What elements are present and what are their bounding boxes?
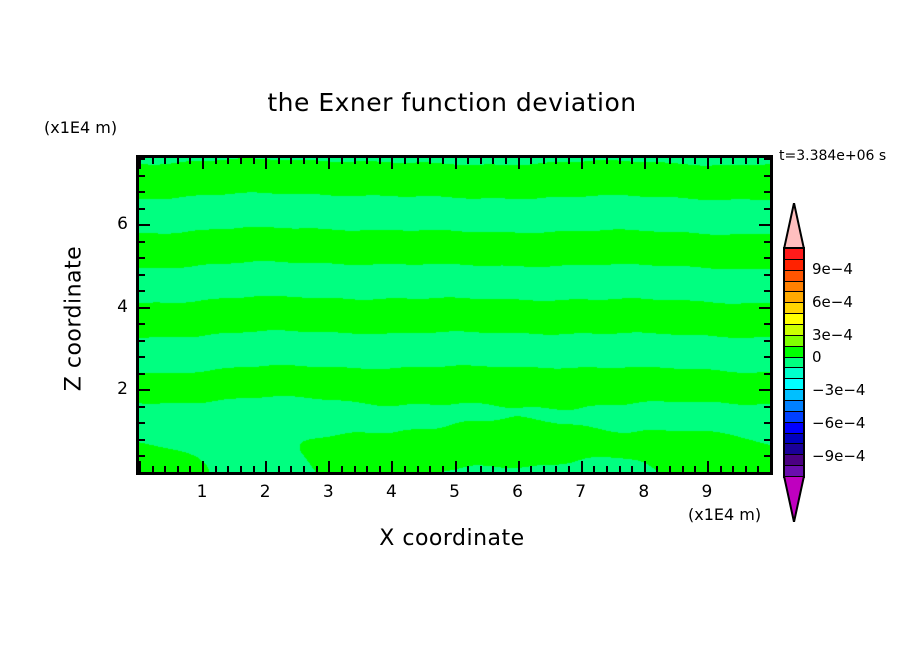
axis-tick [530, 466, 532, 472]
axis-tick [278, 158, 280, 164]
colorbar [783, 247, 805, 478]
axis-tick [770, 461, 772, 472]
colorbar-band [785, 455, 803, 466]
axis-tick [694, 158, 696, 164]
axis-tick [764, 340, 770, 342]
axis-tick [555, 158, 557, 164]
axis-tick [720, 466, 722, 472]
colorbar-band [785, 292, 803, 303]
colorbar-tick-label: −3e−4 [812, 381, 865, 399]
axis-tick [139, 373, 145, 375]
axis-tick [189, 158, 191, 164]
axis-tick [139, 307, 150, 309]
axis-tick [606, 466, 608, 472]
axis-tick [707, 158, 709, 169]
colorbar-band [785, 444, 803, 455]
x-tick-label: 1 [197, 482, 208, 502]
colorbar-band [785, 271, 803, 282]
z-axis-unit-label: (x1E4 m) [44, 118, 117, 137]
axis-tick [518, 158, 520, 169]
axis-tick [442, 158, 444, 164]
axis-tick [303, 158, 305, 164]
axis-tick [366, 466, 368, 472]
axis-tick [764, 439, 770, 441]
axis-tick [764, 158, 770, 160]
axis-tick [139, 323, 145, 325]
axis-tick [764, 356, 770, 358]
colorbar-band [785, 282, 803, 293]
colorbar-tick-label: −9e−4 [812, 447, 865, 465]
axis-tick [745, 466, 747, 472]
axis-tick [467, 158, 469, 164]
axis-tick [379, 158, 381, 164]
axis-tick [759, 224, 770, 226]
axis-tick [568, 466, 570, 472]
axis-tick [253, 158, 255, 164]
colorbar-band [785, 423, 803, 434]
axis-tick [139, 274, 145, 276]
axis-tick [316, 158, 318, 164]
axis-tick [759, 472, 770, 474]
axis-tick [429, 466, 431, 472]
colorbar-band [785, 379, 803, 390]
axis-tick [391, 158, 393, 169]
axis-tick [139, 439, 145, 441]
axis-tick [290, 466, 292, 472]
axis-tick [669, 466, 671, 472]
x-tick-label: 5 [449, 482, 460, 502]
axis-tick [518, 461, 520, 472]
axis-tick [227, 158, 229, 164]
axis-tick [757, 158, 759, 164]
x-tick-label: 7 [575, 482, 586, 502]
axis-tick [770, 158, 772, 169]
axis-tick [631, 158, 633, 164]
axis-tick [764, 373, 770, 375]
axis-tick [759, 307, 770, 309]
axis-tick [707, 461, 709, 472]
axis-tick [139, 257, 145, 259]
axis-tick [341, 158, 343, 164]
colorbar-over-arrow [783, 203, 805, 249]
axis-tick [543, 158, 545, 164]
axis-tick [455, 158, 457, 169]
axis-tick [764, 191, 770, 193]
x-tick-label: 4 [386, 482, 397, 502]
axis-tick [581, 461, 583, 472]
axis-tick [555, 466, 557, 472]
axis-tick [139, 175, 145, 177]
z-tick-label: 6 [104, 214, 128, 234]
colorbar-tick-label: 3e−4 [812, 326, 853, 344]
colorbar-tick-label: 0 [812, 348, 822, 366]
axis-tick [492, 466, 494, 472]
z-tick-label: 2 [104, 379, 128, 399]
axis-tick [492, 158, 494, 164]
axis-tick [139, 191, 145, 193]
axis-tick [379, 466, 381, 472]
colorbar-band [785, 368, 803, 379]
axis-tick [505, 466, 507, 472]
axis-tick [328, 158, 330, 169]
axis-tick [202, 158, 204, 169]
z-axis-title: Z coordinate [62, 219, 87, 419]
axis-tick [265, 461, 267, 472]
axis-tick [764, 290, 770, 292]
axis-tick [455, 461, 457, 472]
axis-tick [619, 466, 621, 472]
axis-tick [139, 422, 145, 424]
axis-tick [391, 461, 393, 472]
x-tick-label: 6 [512, 482, 523, 502]
axis-tick [139, 241, 145, 243]
axis-tick [764, 208, 770, 210]
axis-tick [656, 466, 658, 472]
contour-field-canvas [139, 158, 770, 472]
axis-tick [354, 158, 356, 164]
colorbar-band [785, 260, 803, 271]
x-tick-label: 8 [638, 482, 649, 502]
axis-tick [606, 158, 608, 164]
axis-tick [745, 158, 747, 164]
axis-tick [139, 290, 145, 292]
colorbar-under-arrow [783, 476, 805, 522]
axis-tick [139, 224, 150, 226]
x-tick-label: 2 [260, 482, 271, 502]
axis-tick [656, 158, 658, 164]
axis-tick [152, 466, 154, 472]
axis-tick [202, 461, 204, 472]
axis-tick [366, 158, 368, 164]
axis-tick [429, 158, 431, 164]
axis-tick [764, 274, 770, 276]
axis-tick [303, 466, 305, 472]
axis-tick [593, 158, 595, 164]
axis-tick [227, 466, 229, 472]
axis-tick [505, 158, 507, 164]
axis-tick [164, 158, 166, 164]
axis-tick [177, 158, 179, 164]
axis-tick [764, 406, 770, 408]
axis-tick [764, 455, 770, 457]
colorbar-band [785, 303, 803, 314]
axis-tick [215, 466, 217, 472]
axis-tick [682, 466, 684, 472]
axis-tick [354, 466, 356, 472]
axis-tick [328, 461, 330, 472]
axis-tick [732, 466, 734, 472]
axis-tick [139, 406, 145, 408]
x-axis-unit-label: (x1E4 m) [688, 505, 761, 524]
axis-tick [139, 208, 145, 210]
axis-tick [152, 158, 154, 164]
colorbar-tick-label: −6e−4 [812, 414, 865, 432]
colorbar-band [785, 412, 803, 423]
axis-tick [253, 466, 255, 472]
axis-tick [404, 158, 406, 164]
axis-tick [341, 466, 343, 472]
axis-tick [177, 466, 179, 472]
axis-tick [764, 422, 770, 424]
axis-tick [764, 241, 770, 243]
axis-tick [139, 455, 145, 457]
axis-tick [417, 466, 419, 472]
colorbar-band [785, 466, 803, 476]
axis-tick [619, 158, 621, 164]
colorbar-tick-label: 6e−4 [812, 293, 853, 311]
axis-tick [581, 158, 583, 169]
axis-tick [764, 257, 770, 259]
axis-tick [240, 466, 242, 472]
axis-tick [759, 389, 770, 391]
x-tick-label: 9 [701, 482, 712, 502]
axis-tick [694, 466, 696, 472]
axis-tick [290, 158, 292, 164]
x-tick-label: 3 [323, 482, 334, 502]
axis-tick [417, 158, 419, 164]
colorbar-band [785, 358, 803, 369]
axis-tick [764, 323, 770, 325]
axis-tick [480, 466, 482, 472]
axis-tick [164, 466, 166, 472]
axis-tick [682, 158, 684, 164]
colorbar-band [785, 314, 803, 325]
axis-tick [404, 466, 406, 472]
axis-tick [139, 472, 150, 474]
axis-tick [732, 158, 734, 164]
colorbar-band [785, 336, 803, 347]
axis-tick [240, 158, 242, 164]
axis-tick [139, 158, 145, 160]
axis-tick [265, 158, 267, 169]
contour-plot-area [136, 155, 773, 475]
axis-tick [644, 461, 646, 472]
axis-tick [568, 158, 570, 164]
axis-tick [215, 158, 217, 164]
colorbar-band [785, 325, 803, 336]
colorbar-band [785, 347, 803, 358]
axis-tick [189, 466, 191, 472]
z-tick-label: 4 [104, 297, 128, 317]
colorbar-band [785, 401, 803, 412]
axis-tick [442, 466, 444, 472]
axis-tick [480, 158, 482, 164]
x-axis-title: X coordinate [0, 526, 904, 551]
axis-tick [764, 175, 770, 177]
colorbar-tick-label: 9e−4 [812, 260, 853, 278]
colorbar-band [785, 249, 803, 260]
axis-tick [278, 466, 280, 472]
axis-tick [467, 466, 469, 472]
axis-tick [631, 466, 633, 472]
axis-tick [139, 389, 150, 391]
axis-tick [139, 356, 145, 358]
axis-tick [543, 466, 545, 472]
time-stamp-label: t=3.384e+06 s [779, 148, 886, 164]
axis-tick [139, 340, 145, 342]
colorbar-band [785, 390, 803, 401]
axis-tick [644, 158, 646, 169]
page-title: the Exner function deviation [0, 88, 904, 117]
axis-tick [720, 158, 722, 164]
axis-tick [316, 466, 318, 472]
axis-tick [139, 461, 141, 472]
colorbar-band [785, 434, 803, 445]
axis-tick [669, 158, 671, 164]
axis-tick [593, 466, 595, 472]
axis-tick [530, 158, 532, 164]
